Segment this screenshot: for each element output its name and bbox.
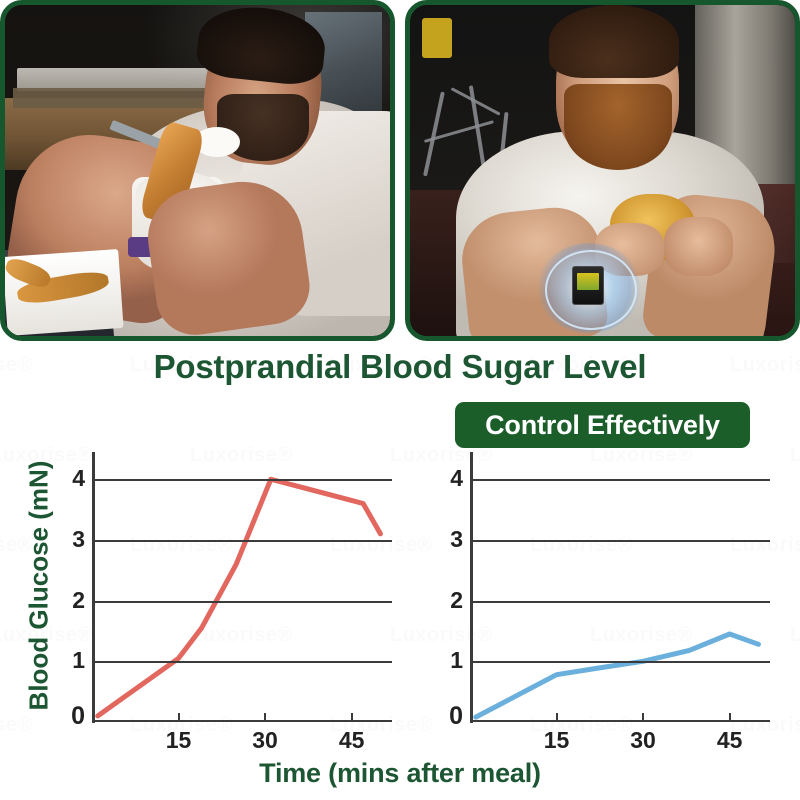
x-tick-label: 15 [166,727,192,754]
chart-without-control: 0 1234153045 [52,452,392,752]
grid-line [92,479,392,481]
y-tick-label: 4 [72,465,85,492]
grid-line [92,661,392,663]
y-tick-label: 1 [72,647,85,674]
y-tick-label: 1 [450,647,463,674]
photo-man-eating-churros-dessert [0,0,395,341]
x-tick-mark [556,713,558,722]
x-tick-label: 15 [544,727,570,754]
x-axis-label: Time (mins after meal) [0,758,800,789]
x-tick-label: 45 [339,727,365,754]
grid-line [470,661,770,663]
status-badge: Control Effectively [455,402,750,448]
chart-with-control: 0 1234153045 [430,452,770,752]
grid-line [470,479,770,481]
line-series-red [92,458,392,722]
data-line [98,479,381,716]
photo-right-canvas [410,5,795,336]
x-tick-label: 30 [630,727,656,754]
grid-line [470,540,770,542]
grid-line [470,601,770,603]
data-line [476,634,759,717]
poster-root: Luxorise®Luxorise®Luxorise®Luxorise®Luxo… [0,0,800,800]
photo-left-canvas [5,5,390,336]
y-tick-zero: 0 [71,702,85,731]
y-tick-label: 3 [450,526,463,553]
y-tick-zero: 0 [449,702,463,731]
y-tick-label: 2 [72,587,85,614]
page-title: Postprandial Blood Sugar Level [0,348,800,386]
x-tick-mark [178,713,180,722]
x-tick-mark [351,713,353,722]
y-tick-label: 3 [72,526,85,553]
charts-area: Blood Glucose (mN) 0 1234153045 0 123415… [0,452,800,752]
x-tick-mark [264,713,266,722]
x-tick-label: 30 [252,727,278,754]
status-badge-label: Control Effectively [485,410,720,441]
y-axis-label: Blood Glucose (mN) [24,451,55,721]
grid-line [92,601,392,603]
y-tick-label: 2 [450,587,463,614]
y-tick-label: 4 [450,465,463,492]
photo-row [0,0,800,341]
x-tick-mark [642,713,644,722]
x-tick-mark [729,713,731,722]
plot-area-left: 0 1234153045 [92,458,392,722]
grid-line [92,540,392,542]
x-tick-label: 45 [717,727,743,754]
wearable-device-icon [572,266,605,304]
line-series-blue [470,458,770,722]
plot-area-right: 0 1234153045 [470,458,770,722]
photo-bearded-man-eating-burger-with-device [405,0,800,341]
